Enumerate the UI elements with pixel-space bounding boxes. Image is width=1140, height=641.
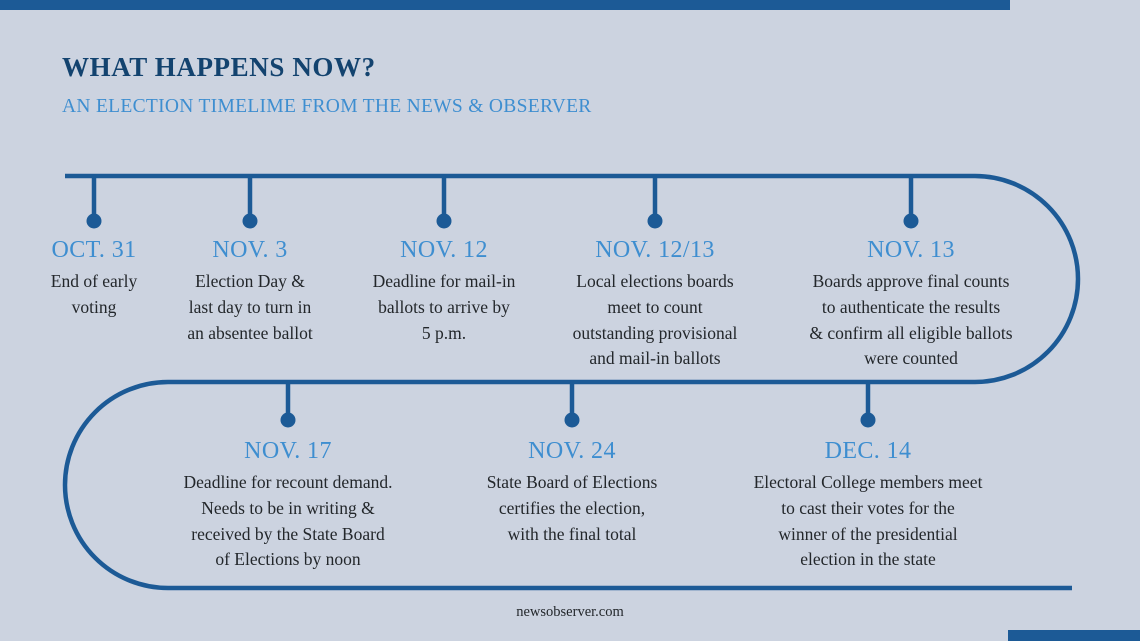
footer-credit: newsobserver.com bbox=[0, 604, 1140, 621]
entry-line: of Elections by noon bbox=[143, 547, 433, 573]
entry-line: winner of the presidential bbox=[713, 522, 1023, 548]
entry-date: NOV. 13 bbox=[771, 236, 1051, 264]
entry-line: and mail-in ballots bbox=[540, 346, 770, 372]
entry-description: State Board of Elections certifies the e… bbox=[452, 470, 692, 547]
entry-date: NOV. 24 bbox=[452, 437, 692, 465]
marker-dot bbox=[904, 214, 919, 229]
entry-description: Local elections boards meet to count out… bbox=[540, 269, 770, 372]
entry-description: Boards approve final counts to authentic… bbox=[771, 269, 1051, 372]
entry-description: Electoral College members meet to cast t… bbox=[713, 470, 1023, 573]
entry-line: to authenticate the results bbox=[771, 295, 1051, 321]
entry-line: Deadline for mail-in bbox=[338, 269, 550, 295]
entry-description: Election Day & last day to turn in an ab… bbox=[150, 269, 350, 346]
entry-line: Needs to be in writing & bbox=[143, 496, 433, 522]
entry-line: meet to count bbox=[540, 295, 770, 321]
timeline-entry-nov-12[interactable]: NOV. 12 Deadline for mail-in ballots to … bbox=[338, 236, 550, 346]
timeline-entry-nov-3[interactable]: NOV. 3 Election Day & last day to turn i… bbox=[150, 236, 350, 346]
entry-line: Boards approve final counts bbox=[771, 269, 1051, 295]
entry-line: ballots to arrive by bbox=[338, 295, 550, 321]
entry-description: Deadline for recount demand. Needs to be… bbox=[143, 470, 433, 573]
entry-date: NOV. 12 bbox=[338, 236, 550, 264]
marker-dot bbox=[861, 413, 876, 428]
entry-line: Deadline for recount demand. bbox=[143, 470, 433, 496]
timeline-entry-nov-13[interactable]: NOV. 13 Boards approve final counts to a… bbox=[771, 236, 1051, 372]
entry-line: Local elections boards bbox=[540, 269, 770, 295]
entry-line: last day to turn in bbox=[150, 295, 350, 321]
entry-line: were counted bbox=[771, 346, 1051, 372]
entry-line: with the final total bbox=[452, 522, 692, 548]
bottom-right-accent-bar bbox=[1008, 630, 1140, 641]
entry-line: & confirm all eligible ballots bbox=[771, 321, 1051, 347]
infographic-canvas: WHAT HAPPENS NOW? AN ELECTION TIMELIME F… bbox=[0, 0, 1140, 641]
entry-line: received by the State Board bbox=[143, 522, 433, 548]
entry-description: Deadline for mail-in ballots to arrive b… bbox=[338, 269, 550, 346]
entry-line: to cast their votes for the bbox=[713, 496, 1023, 522]
header: WHAT HAPPENS NOW? AN ELECTION TIMELIME F… bbox=[62, 52, 962, 118]
timeline-entry-nov-24[interactable]: NOV. 24 State Board of Elections certifi… bbox=[452, 437, 692, 547]
marker-dot bbox=[648, 214, 663, 229]
page-title: WHAT HAPPENS NOW? bbox=[62, 52, 962, 83]
entry-date: NOV. 12/13 bbox=[540, 236, 770, 264]
entry-line: 5 p.m. bbox=[338, 321, 550, 347]
timeline-entry-nov-17[interactable]: NOV. 17 Deadline for recount demand. Nee… bbox=[143, 437, 433, 573]
marker-dot bbox=[281, 413, 296, 428]
marker-dot bbox=[437, 214, 452, 229]
timeline-entry-nov-12-13[interactable]: NOV. 12/13 Local elections boards meet t… bbox=[540, 236, 770, 372]
entry-line: Electoral College members meet bbox=[713, 470, 1023, 496]
entry-line: certifies the election, bbox=[452, 496, 692, 522]
entry-date: DEC. 14 bbox=[713, 437, 1023, 465]
marker-dot bbox=[243, 214, 258, 229]
entry-line: election in the state bbox=[713, 547, 1023, 573]
entry-line: Election Day & bbox=[150, 269, 350, 295]
marker-dot bbox=[565, 413, 580, 428]
entry-line: an absentee ballot bbox=[150, 321, 350, 347]
entry-date: NOV. 17 bbox=[143, 437, 433, 465]
timeline-entry-dec-14[interactable]: DEC. 14 Electoral College members meet t… bbox=[713, 437, 1023, 573]
top-accent-bar bbox=[0, 0, 1010, 10]
entry-date: NOV. 3 bbox=[150, 236, 350, 264]
marker-dot bbox=[87, 214, 102, 229]
entry-line: State Board of Elections bbox=[452, 470, 692, 496]
page-subtitle: AN ELECTION TIMELIME FROM THE NEWS & OBS… bbox=[62, 96, 962, 118]
entry-line: outstanding provisional bbox=[540, 321, 770, 347]
